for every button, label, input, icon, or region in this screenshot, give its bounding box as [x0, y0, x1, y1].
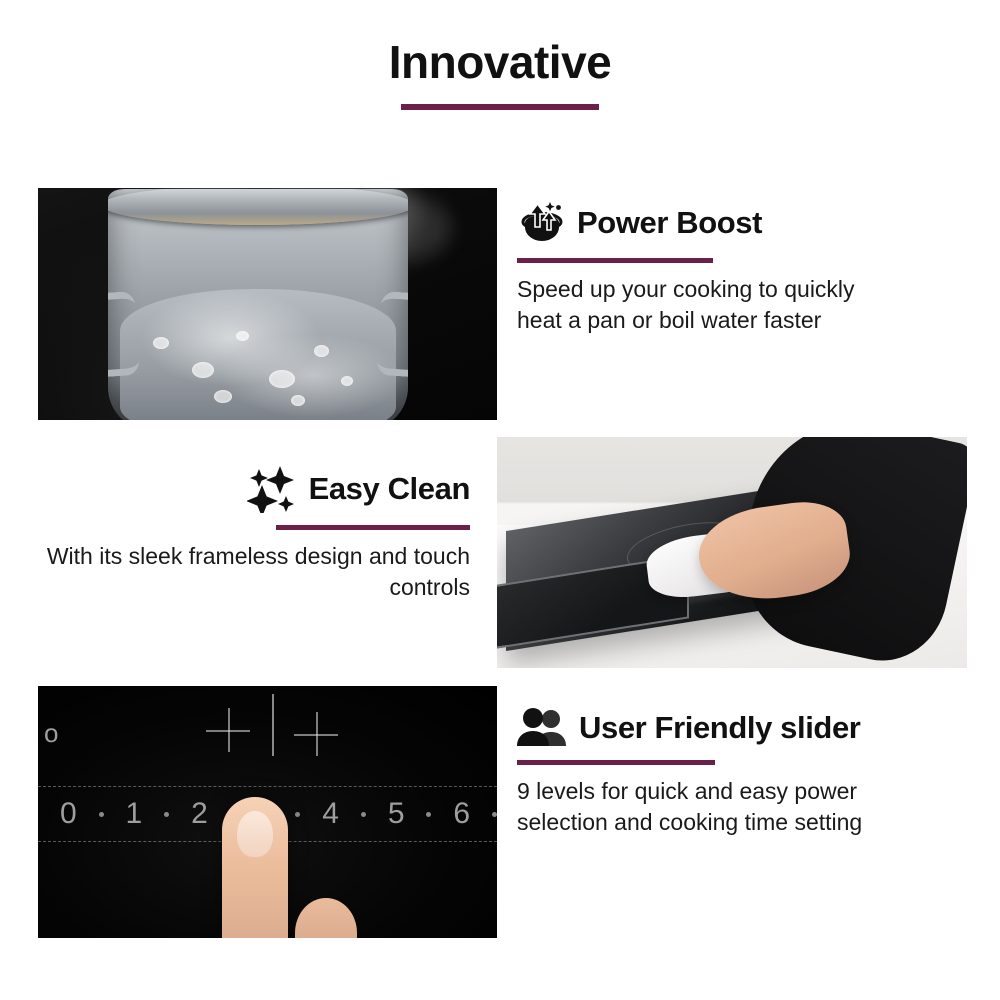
- slider-level-6[interactable]: 6: [431, 797, 492, 831]
- plus-mark-icon: [294, 712, 338, 756]
- user-friendly-slider-heading: User Friendly slider: [517, 708, 957, 748]
- water-bubble: [236, 331, 249, 341]
- pot-rim: [108, 189, 408, 225]
- fingernail: [237, 811, 273, 857]
- touch-slider-scene: o 0 1 2 3 4 5 6: [38, 686, 497, 938]
- user-friendly-slider-description: 9 levels for quick and easy power select…: [517, 776, 937, 837]
- easy-clean-description: With its sleek frameless design and touc…: [30, 541, 470, 602]
- two-people-icon: [517, 708, 569, 748]
- pointing-finger: [222, 797, 288, 938]
- water-bubble: [314, 345, 329, 357]
- slider-tick-dot: [492, 812, 497, 817]
- water-bubble: [214, 390, 232, 403]
- sparkles-icon: [247, 465, 299, 513]
- slider-level-5[interactable]: 5: [366, 797, 427, 831]
- adjacent-finger: [295, 898, 357, 938]
- water-bubble: [192, 362, 214, 378]
- power-boost-text: Power Boost Speed up your cooking to qui…: [517, 188, 937, 335]
- feature-block-easy-clean: Easy Clean With its sleek frameless desi…: [30, 437, 967, 668]
- title-underline-accent: [401, 104, 599, 110]
- easy-clean-heading: Easy Clean: [30, 465, 470, 513]
- boiling-pot-scene: [38, 188, 497, 420]
- power-boost-heading: Power Boost: [517, 200, 937, 246]
- slider-level-2[interactable]: 2: [169, 797, 230, 831]
- page-header: Innovative: [0, 38, 1000, 110]
- water-bubble: [269, 370, 295, 388]
- hob-cleaning-scene: [497, 437, 967, 668]
- water-bubble: [153, 337, 169, 349]
- water-bubble: [291, 395, 305, 406]
- plus-mark-icon: [206, 708, 250, 752]
- easy-clean-text: Easy Clean With its sleek frameless desi…: [30, 437, 470, 602]
- user-friendly-slider-text: User Friendly slider 9 levels for quick …: [517, 686, 957, 837]
- power-boost-photo: [38, 188, 497, 420]
- boiling-water: [120, 289, 396, 420]
- slider-level-0[interactable]: 0: [38, 797, 99, 831]
- pot-boost-icon: [517, 200, 567, 246]
- easy-clean-photo: [497, 437, 967, 668]
- zone-divider-line: [272, 694, 274, 756]
- pot-handle-right: [376, 291, 408, 381]
- water-bubble: [341, 376, 353, 386]
- slider-level-4[interactable]: 4: [300, 797, 361, 831]
- feature-block-user-friendly-slider: o 0 1 2 3 4 5 6: [38, 686, 957, 938]
- user-friendly-slider-photo: o 0 1 2 3 4 5 6: [38, 686, 497, 938]
- power-boost-underline-accent: [517, 258, 713, 263]
- easy-clean-underline-accent: [276, 525, 470, 530]
- user-friendly-slider-title: User Friendly slider: [579, 711, 860, 745]
- power-boost-description: Speed up your cooking to quickly heat a …: [517, 274, 887, 335]
- page-title: Innovative: [0, 38, 1000, 86]
- power-boost-title: Power Boost: [577, 206, 762, 240]
- easy-clean-title: Easy Clean: [309, 472, 470, 506]
- slider-level-1[interactable]: 1: [104, 797, 165, 831]
- cooking-pot: [108, 189, 408, 420]
- feature-block-power-boost: Power Boost Speed up your cooking to qui…: [38, 188, 937, 420]
- partial-glyph: o: [44, 718, 58, 749]
- user-friendly-slider-underline-accent: [517, 760, 715, 765]
- pot-handle-left: [108, 291, 140, 381]
